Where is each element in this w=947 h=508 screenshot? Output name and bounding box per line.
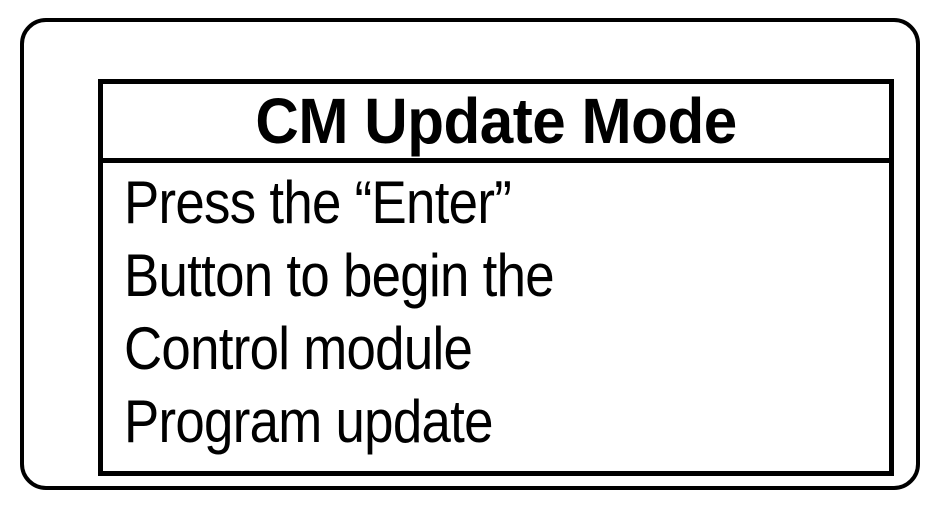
- message-line-4: Program update: [124, 385, 797, 458]
- message-line-2: Button to begin the: [124, 239, 797, 312]
- lcd-screen: CM Update Mode Press the “Enter” Button …: [98, 79, 894, 476]
- message-line-1: Press the “Enter”: [124, 166, 797, 239]
- screen-title: CM Update Mode: [255, 89, 736, 153]
- message-line-3: Control module: [124, 312, 797, 385]
- lcd-message-area: Press the “Enter” Button to begin the Co…: [103, 163, 889, 471]
- device-bezel: CM Update Mode Press the “Enter” Button …: [20, 18, 920, 490]
- lcd-title-bar: CM Update Mode: [103, 84, 889, 163]
